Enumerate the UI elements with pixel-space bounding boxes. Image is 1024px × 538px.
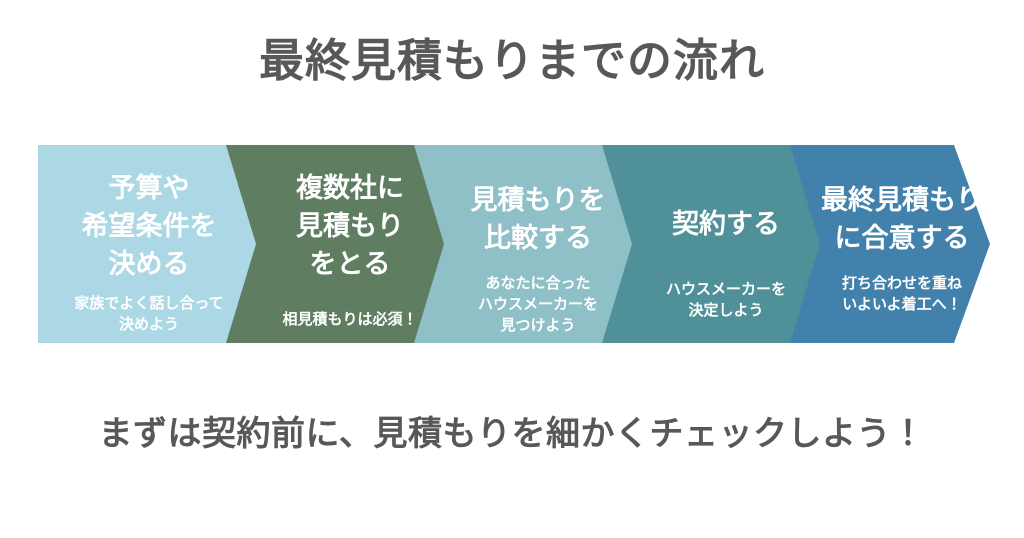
process-flow-diagram: 予算や 希望条件を 決める 家族でよく話し合って 決めよう 複数社に 見積もり … [38, 145, 990, 343]
flow-step-5[interactable]: 最終見積もり に合意する 打ち合わせを重ね いよいよ着工へ！ [790, 145, 990, 343]
bottom-caption: まずは契約前に、見積もりを細かくチェックしよう！ [0, 408, 1024, 460]
chevron-shape-5 [790, 145, 990, 343]
infographic-page: 最終見積もりまでの流れ 予算や 希望条件を 決める 家族でよく話し合って 決めよ… [0, 0, 1024, 538]
page-title: 最終見積もりまでの流れ [0, 32, 1024, 90]
